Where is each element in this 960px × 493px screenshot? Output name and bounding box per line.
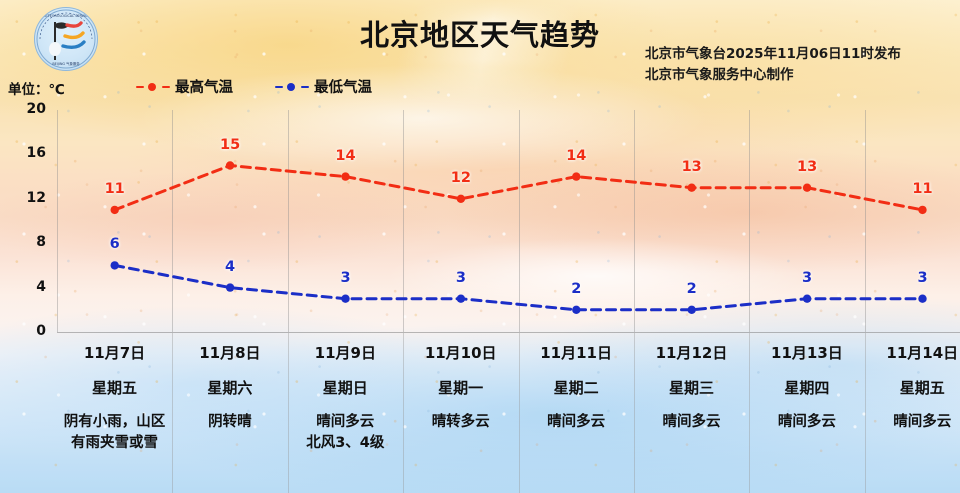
data-point-high-5: [688, 184, 696, 192]
value-label-high-5: 13: [662, 159, 722, 175]
value-label-low-5: 2: [662, 281, 722, 297]
value-label-low-6: 3: [777, 270, 837, 286]
data-point-high-7: [918, 206, 926, 214]
column-divider: [634, 333, 635, 493]
forecast-weekday: 星期五: [865, 377, 960, 398]
forecast-column-3[interactable]: 11月10日星期一晴转多云: [403, 333, 518, 433]
value-label-low-4: 2: [546, 281, 606, 297]
column-divider: [172, 333, 173, 493]
forecast-weekday: 星期三: [634, 377, 749, 398]
value-label-high-4: 14: [546, 148, 606, 164]
forecast-weather: 晴间多云: [749, 412, 864, 433]
forecast-date: 11月11日: [519, 342, 634, 363]
value-label-low-7: 3: [893, 270, 953, 286]
data-point-low-5: [688, 306, 696, 314]
value-label-low-0: 6: [85, 236, 145, 252]
forecast-weather: 晴间多云 北风3、4级: [288, 412, 403, 454]
forecast-weather: 晴间多云: [865, 412, 960, 433]
data-point-low-3: [457, 295, 465, 303]
forecast-weekday: 星期五: [57, 377, 172, 398]
forecast-date-strip: 11月7日星期五阴有小雨，山区有雨夹雪或雪11月8日星期六阴转晴11月9日星期日…: [0, 333, 960, 493]
data-point-high-0: [111, 206, 119, 214]
column-divider: [288, 333, 289, 493]
data-point-low-4: [572, 306, 580, 314]
data-point-high-4: [572, 172, 580, 180]
forecast-date: 11月7日: [57, 342, 172, 363]
column-divider: [519, 333, 520, 493]
data-point-low-6: [803, 295, 811, 303]
column-divider: [865, 333, 866, 493]
forecast-weekday: 星期二: [519, 377, 634, 398]
value-label-high-6: 13: [777, 159, 837, 175]
forecast-weather: 晴转多云: [403, 412, 518, 433]
forecast-weather: 晴间多云: [519, 412, 634, 433]
forecast-date: 11月14日: [865, 342, 960, 363]
forecast-weather: 阴有小雨，山区有雨夹雪或雪: [57, 412, 172, 454]
forecast-date: 11月10日: [403, 342, 518, 363]
forecast-weekday: 星期日: [288, 377, 403, 398]
forecast-column-5[interactable]: 11月12日星期三晴间多云: [634, 333, 749, 433]
value-label-low-3: 3: [431, 270, 491, 286]
column-divider: [749, 333, 750, 493]
data-point-high-2: [341, 172, 349, 180]
value-label-high-3: 12: [431, 170, 491, 186]
forecast-date: 11月8日: [172, 342, 287, 363]
forecast-weather: 阴转晴: [172, 412, 287, 433]
forecast-weather: 晴间多云: [634, 412, 749, 433]
data-point-low-1: [226, 283, 234, 291]
forecast-weekday: 星期四: [749, 377, 864, 398]
value-label-high-1: 15: [200, 137, 260, 153]
weather-trend-infographic: METEOROLOGICAL SERVICE BEIJING 气象服务 北京地区…: [0, 0, 960, 493]
forecast-date: 11月9日: [288, 342, 403, 363]
data-point-high-3: [457, 195, 465, 203]
forecast-column-7[interactable]: 11月14日星期五晴间多云: [865, 333, 960, 433]
data-point-high-1: [226, 161, 234, 169]
value-label-high-0: 11: [85, 181, 145, 197]
value-label-high-7: 11: [893, 181, 953, 197]
column-divider: [403, 333, 404, 493]
data-point-low-7: [918, 295, 926, 303]
forecast-column-0[interactable]: 11月7日星期五阴有小雨，山区有雨夹雪或雪: [57, 333, 172, 454]
value-label-low-1: 4: [200, 259, 260, 275]
forecast-weekday: 星期六: [172, 377, 287, 398]
data-point-low-2: [341, 295, 349, 303]
data-point-low-0: [111, 261, 119, 269]
value-label-high-2: 14: [316, 148, 376, 164]
forecast-column-1[interactable]: 11月8日星期六阴转晴: [172, 333, 287, 433]
forecast-weekday: 星期一: [403, 377, 518, 398]
data-point-high-6: [803, 184, 811, 192]
value-label-low-2: 3: [316, 270, 376, 286]
forecast-column-4[interactable]: 11月11日星期二晴间多云: [519, 333, 634, 433]
forecast-column-6[interactable]: 11月13日星期四晴间多云: [749, 333, 864, 433]
forecast-column-2[interactable]: 11月9日星期日晴间多云 北风3、4级: [288, 333, 403, 454]
forecast-date: 11月12日: [634, 342, 749, 363]
forecast-date: 11月13日: [749, 342, 864, 363]
